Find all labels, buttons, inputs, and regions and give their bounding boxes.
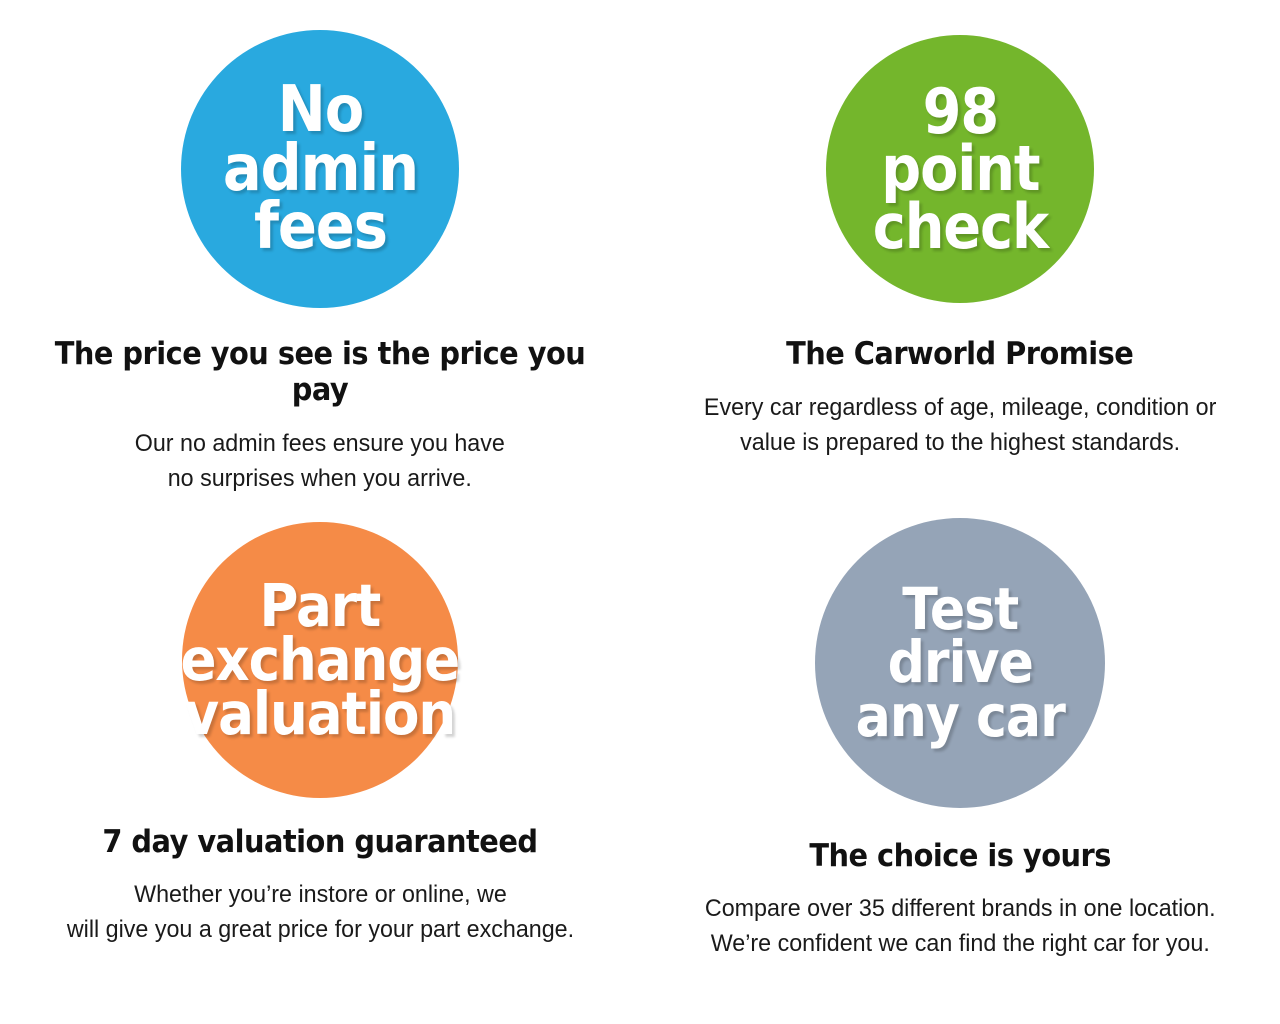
- benefit-heading: The price you see is the price you pay: [22, 336, 617, 408]
- badge-text: Test drive any car: [855, 583, 1064, 743]
- benefit-heading: The choice is yours: [809, 838, 1110, 874]
- badge-text: Part exchange valuation: [181, 579, 460, 742]
- badge-circle-98-point-check: 98 point check: [826, 35, 1094, 303]
- badge-line: fees: [222, 198, 417, 257]
- benefit-card-test-drive-any-car: Test drive any car The choice is yours C…: [640, 508, 1280, 1008]
- badge-line: admin: [222, 140, 417, 199]
- badge-circle-no-admin-fees: No admin fees: [181, 30, 459, 308]
- benefit-body-line: Every car regardless of age, mileage, co…: [704, 390, 1216, 425]
- benefit-body-line: Whether you’re instore or online, we: [66, 877, 573, 912]
- benefit-card-98-point-check: 98 point check The Carworld Promise Ever…: [640, 8, 1280, 508]
- benefit-body-line: will give you a great price for your par…: [66, 912, 573, 947]
- badge-line: any car: [855, 690, 1064, 743]
- benefit-heading: The Carworld Promise: [786, 336, 1133, 372]
- benefit-body-line: Compare over 35 different brands in one …: [705, 891, 1216, 926]
- badge-text: No admin fees: [222, 81, 417, 258]
- benefit-body: Whether you’re instore or online, we wil…: [66, 877, 573, 947]
- benefit-card-no-admin-fees: No admin fees The price you see is the p…: [0, 8, 640, 508]
- benefit-body-line: We’re confident we can find the right ca…: [705, 926, 1216, 961]
- benefit-body-line: no surprises when you arrive.: [135, 461, 505, 496]
- benefit-body: Our no admin fees ensure you have no sur…: [135, 426, 505, 496]
- benefits-grid: No admin fees The price you see is the p…: [0, 0, 1280, 1024]
- benefit-body-line: value is prepared to the highest standar…: [704, 425, 1216, 460]
- benefit-card-part-exchange-valuation: Part exchange valuation 7 day valuation …: [0, 508, 640, 1008]
- benefit-heading: 7 day valuation guaranteed: [102, 824, 537, 860]
- badge-line: valuation: [181, 687, 460, 741]
- benefit-body: Every car regardless of age, mileage, co…: [704, 390, 1216, 460]
- badge-line: check: [872, 198, 1047, 255]
- badge-circle-test-drive-any-car: Test drive any car: [815, 518, 1105, 808]
- benefit-body: Compare over 35 different brands in one …: [705, 891, 1216, 961]
- benefit-body-line: Our no admin fees ensure you have: [135, 426, 505, 461]
- badge-circle-part-exchange-valuation: Part exchange valuation: [182, 522, 458, 798]
- badge-text: 98 point check: [872, 83, 1047, 254]
